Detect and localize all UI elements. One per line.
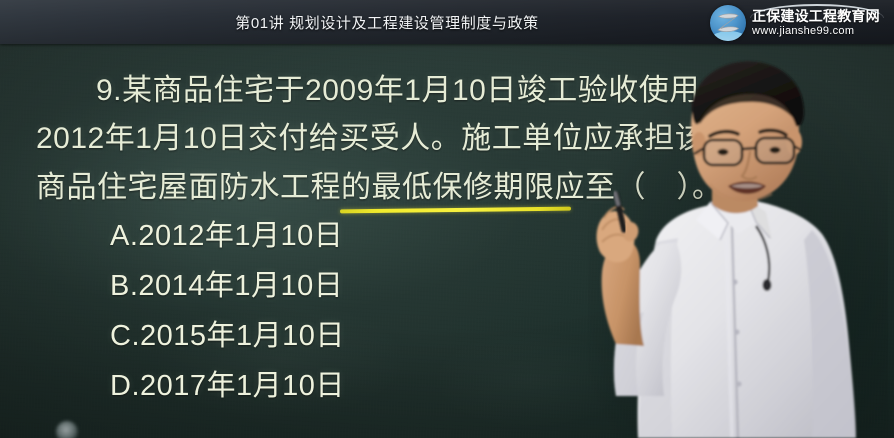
- answer-option-a[interactable]: A.2012年1月10日: [110, 222, 345, 251]
- logo-site-name: 正保建设工程教育网: [752, 9, 880, 24]
- question-line-1: 9.某商品住宅于2009年1月10日竣工验收使用: [96, 76, 700, 106]
- answer-options-list: A.2012年1月10日 B.2014年1月10日 C.2015年1月10日 D…: [110, 222, 345, 401]
- lesson-header-bar: 第01讲 规划设计及工程建设管理制度与政策 正保建设工程教育网 www.jian…: [0, 0, 894, 44]
- answer-option-c[interactable]: C.2015年1月10日: [110, 322, 345, 351]
- question-line-3: 商品住宅屋面防水工程的最低保修期限应至（ ）。: [36, 173, 723, 203]
- video-frame: 9.某商品住宅于2009年1月10日竣工验收使用 2012年1月10日交付给买受…: [0, 0, 894, 438]
- logo-text-block: 正保建设工程教育网 www.jianshe99.com: [752, 9, 880, 37]
- logo-z-glyph: [710, 5, 746, 41]
- answer-option-b[interactable]: B.2014年1月10日: [110, 272, 345, 301]
- answer-option-d[interactable]: D.2017年1月10日: [110, 372, 345, 401]
- question-line-2: 2012年1月10日交付给买受人。施工单位应承担该: [36, 124, 705, 154]
- site-logo[interactable]: 正保建设工程教育网 www.jianshe99.com: [710, 3, 888, 43]
- logo-circle-icon: [710, 5, 746, 41]
- logo-site-url: www.jianshe99.com: [752, 26, 880, 38]
